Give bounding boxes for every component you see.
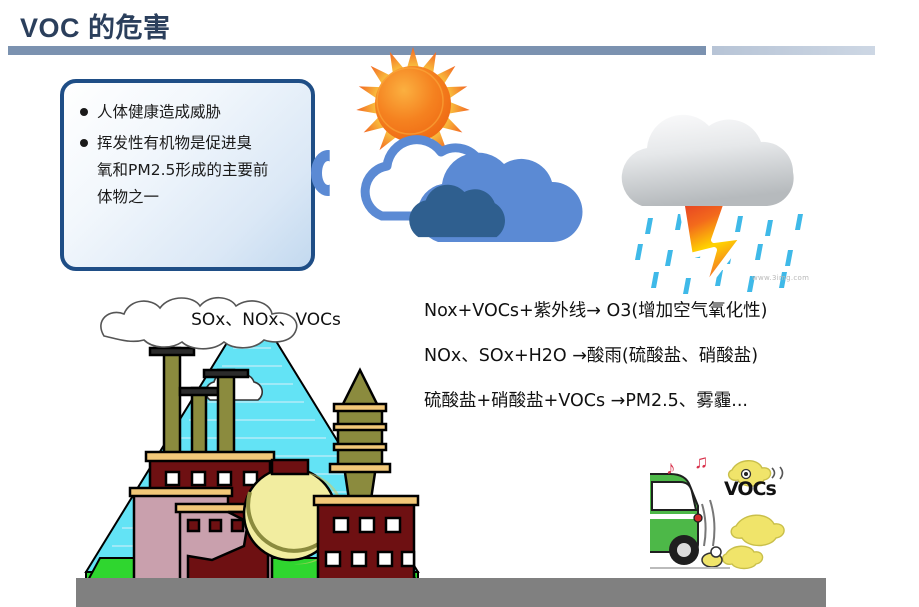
- header-rule-secondary: [712, 46, 875, 55]
- car-illustration: [650, 448, 880, 588]
- slide-canvas: VOC 的危害 人体健康造成威胁 挥发性有机物是促进臭 氧和PM2.5形成的主要…: [0, 0, 919, 607]
- equation-line: Nox+VOCs+紫外线→ O3(增加空气氧化性): [424, 300, 854, 322]
- footer-bar: [76, 578, 826, 607]
- emission-label: SOx、NOx、VOCs: [176, 305, 356, 330]
- bullet-text: 人体健康造成威胁: [97, 99, 221, 126]
- page-title: VOC 的危害: [20, 6, 171, 45]
- list-item: 人体健康造成威胁: [80, 99, 301, 126]
- bullet-dot-icon: [80, 108, 88, 116]
- bullet-line: 体物之一: [97, 184, 268, 211]
- list-item: 挥发性有机物是促进臭 氧和PM2.5形成的主要前 体物之一: [80, 130, 301, 211]
- bullet-line: 氧和PM2.5形成的主要前: [97, 157, 268, 184]
- bullet-text: 挥发性有机物是促进臭 氧和PM2.5形成的主要前 体物之一: [97, 130, 268, 211]
- cloud-cluster-icon: [330, 120, 630, 270]
- music-note-icon: ♪: [666, 458, 676, 480]
- watermark-text: www.3img.com: [752, 274, 809, 282]
- reaction-equations: Nox+VOCs+紫外线→ O3(增加空气氧化性) NOx、SOx+H2O →酸…: [424, 300, 854, 435]
- bullet-dot-icon: [80, 139, 88, 147]
- storm-cloud-icon: [620, 110, 890, 300]
- equation-line: NOx、SOx+H2O →酸雨(硫酸盐、硝酸盐): [424, 345, 854, 367]
- equation-line: 硫酸盐+硝酸盐+VOCs →PM2.5、雾霾...: [424, 390, 854, 412]
- music-note-icon: ♫: [694, 452, 708, 474]
- car-emission-label: VOCs: [724, 478, 776, 500]
- harm-callout-box: 人体健康造成威胁 挥发性有机物是促进臭 氧和PM2.5形成的主要前 体物之一: [60, 79, 315, 271]
- callout-content: 人体健康造成威胁 挥发性有机物是促进臭 氧和PM2.5形成的主要前 体物之一: [80, 99, 301, 215]
- bullet-line: 挥发性有机物是促进臭: [97, 130, 268, 157]
- factory-illustration: [82, 296, 422, 588]
